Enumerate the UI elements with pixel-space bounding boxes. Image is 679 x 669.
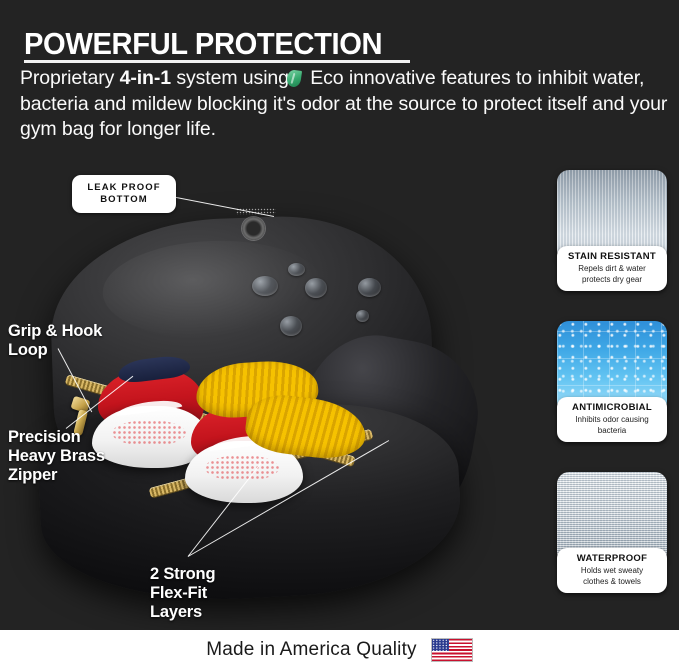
water-droplet [280,316,302,336]
layers-line-1: 2 Strong [150,565,215,584]
subtitle-paragraph: Proprietary 4-in-1 system using Eco inno… [20,66,670,143]
subtitle-highlight: 4-in-1 [120,67,171,89]
layers-line-3: Layers [150,603,215,622]
page-title: POWERFUL PROTECTION [24,26,382,62]
header-section: POWERFUL PROTECTION Proprietary 4-in-1 s… [0,0,679,158]
water-droplet [252,276,278,296]
card-title: STAIN RESISTANT [559,251,665,263]
water-droplet [305,278,327,298]
card-desc-line-1: Repels dirt & water [559,264,665,274]
footer-text: Made in America Quality [206,639,417,661]
grip-hook-line-2: Loop [8,341,102,360]
title-underline [24,60,410,63]
leader-line-leak-proof [166,195,274,217]
eco-leaf-icon [287,70,301,87]
feature-card-list: STAIN RESISTANT Repels dirt & water prot… [545,158,679,630]
water-droplet [358,278,381,297]
leak-proof-line-1: LEAK PROOF [76,182,172,194]
card-desc-line-1: Holds wet sweaty [559,566,665,576]
grip-hook-line-1: Grip & Hook [8,322,102,341]
feature-card-antimicrobial: ANTIMICROBIAL Inhibits odor causing bact… [557,321,667,442]
zipper-line-1: Precision [8,428,105,447]
callout-grip-hook: Grip & Hook Loop [8,322,102,360]
callout-layers: 2 Strong Flex-Fit Layers [150,565,215,622]
water-droplet [288,263,305,276]
feature-card-waterproof: WATERPROOF Holds wet sweaty clothes & to… [557,472,667,593]
footer-bar: Made in America Quality [0,630,679,669]
product-photo [0,158,545,630]
water-droplet [356,310,369,322]
callout-zipper: Precision Heavy Brass Zipper [8,428,105,485]
zipper-line-3: Zipper [8,466,105,485]
card-title: ANTIMICROBIAL [559,402,665,414]
infographic-page: POWERFUL PROTECTION Proprietary 4-in-1 s… [0,0,679,669]
feature-card-stain-resistant: STAIN RESISTANT Repels dirt & water prot… [557,170,667,291]
card-desc-line-2: clothes & towels [559,577,665,587]
antimicrobial-caption: ANTIMICROBIAL Inhibits odor causing bact… [557,397,667,442]
card-desc-line-1: Inhibits odor causing [559,415,665,425]
callout-leak-proof: LEAK PROOF BOTTOM [72,175,176,213]
layers-line-2: Flex-Fit [150,584,215,603]
zipper-line-2: Heavy Brass [8,447,105,466]
subtitle-part-2: system using [171,67,289,89]
stain-resistant-caption: STAIN RESISTANT Repels dirt & water prot… [557,246,667,291]
card-title: WATERPROOF [559,553,665,565]
subtitle-part-1: Proprietary [20,67,120,89]
card-desc-line-2: protects dry gear [559,275,665,285]
waterproof-caption: WATERPROOF Holds wet sweaty clothes & to… [557,548,667,593]
us-flag-icon [431,638,473,662]
card-desc-line-2: bacteria [559,426,665,436]
leak-proof-line-2: BOTTOM [76,194,172,206]
